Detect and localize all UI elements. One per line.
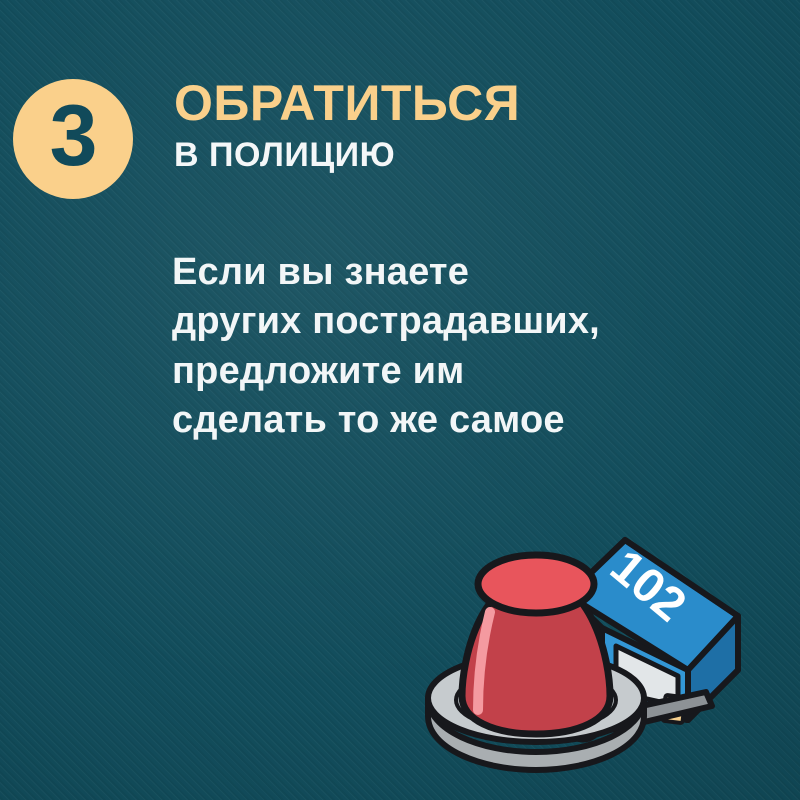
body-line: Если вы знаете bbox=[172, 248, 732, 297]
body-copy: Если вы знаете других пострадавших, пред… bbox=[172, 248, 732, 446]
body-line: других пострадавших, bbox=[172, 297, 732, 346]
headline-primary: ОБРАТИТЬСЯ bbox=[174, 78, 774, 128]
body-line: сделать то же самое bbox=[172, 396, 732, 445]
illustration-siren-and-police-van: 102 bbox=[420, 520, 800, 800]
siren-dome-top bbox=[478, 555, 594, 613]
step-number-badge: 3 bbox=[13, 79, 133, 199]
body-line: предложите им bbox=[172, 347, 732, 396]
headline-block: ОБРАТИТЬСЯ В ПОЛИЦИЮ bbox=[174, 78, 774, 172]
step-number-label: 3 bbox=[50, 93, 97, 179]
headline-secondary: В ПОЛИЦИЮ bbox=[174, 138, 774, 172]
poster-canvas: 3 ОБРАТИТЬСЯ В ПОЛИЦИЮ Если вы знаете др… bbox=[0, 0, 800, 800]
